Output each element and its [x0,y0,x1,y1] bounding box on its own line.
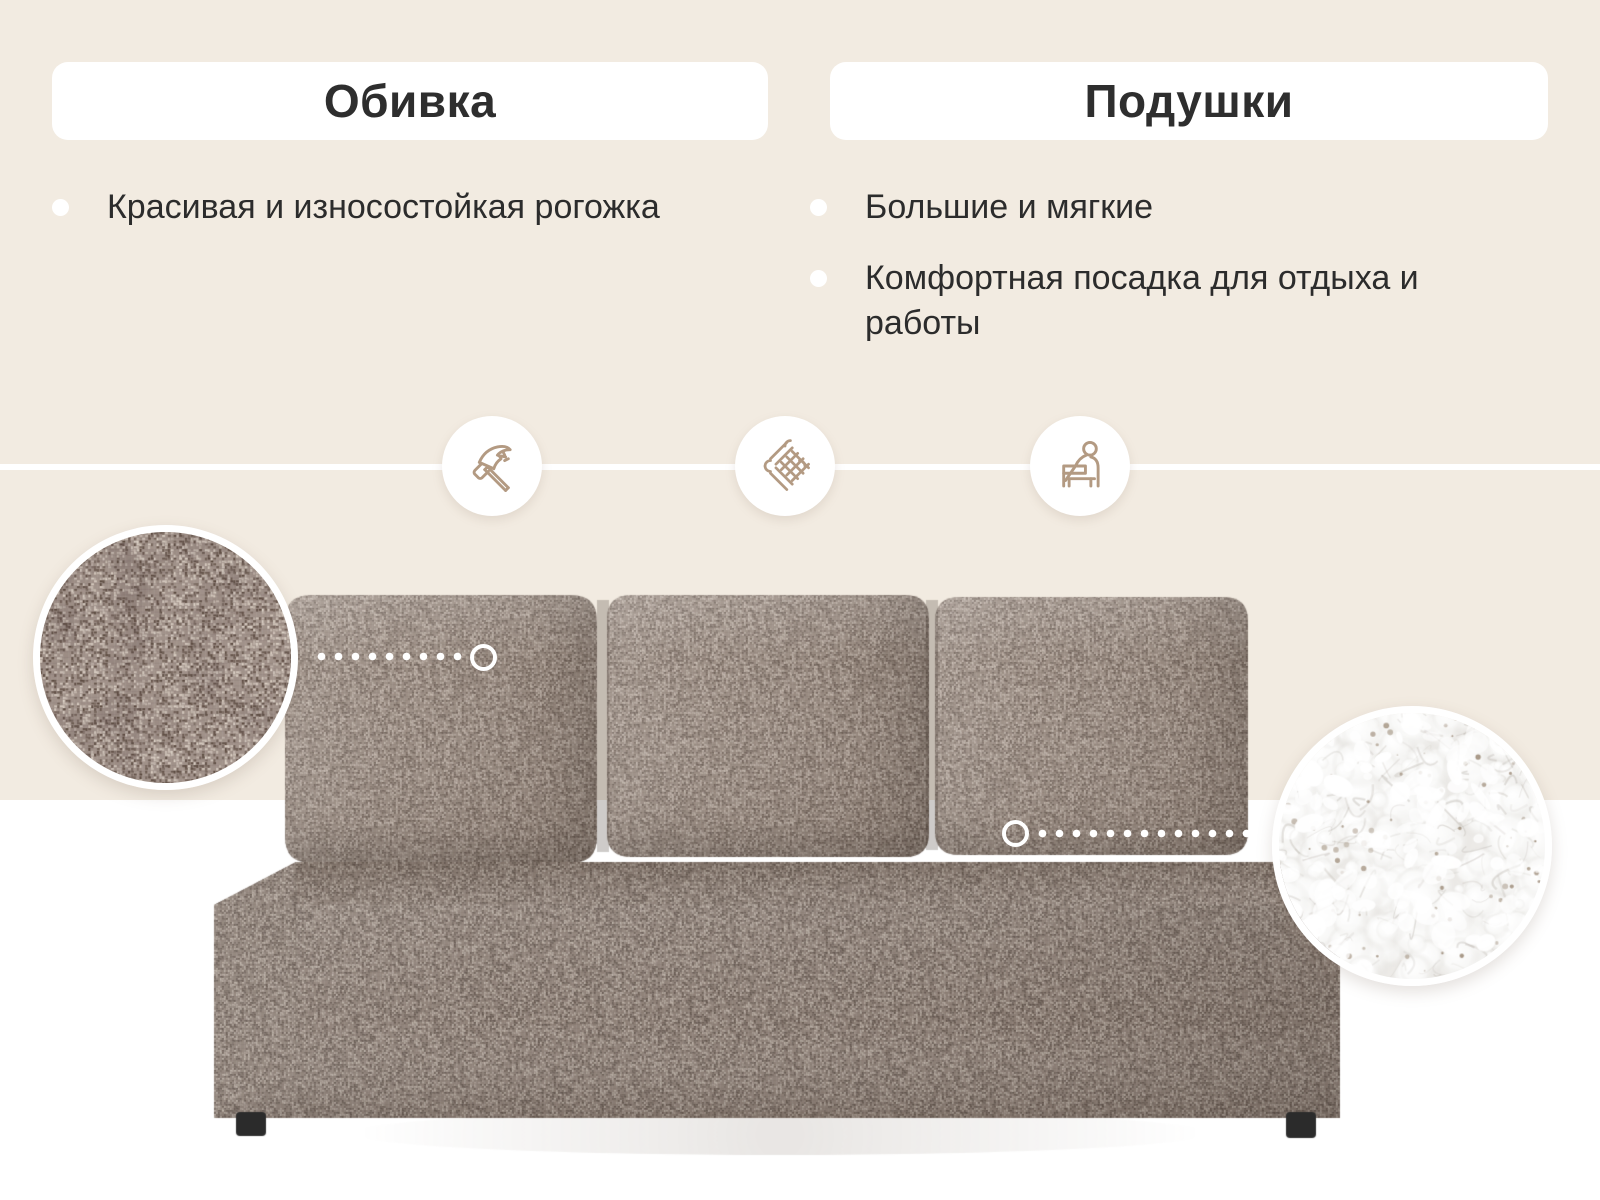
list-item: Комфортная посадка для отдыха и работы [810,256,1530,346]
icon-badge-person-sitting [1030,416,1130,516]
feature-text: Комфортная посадка для отдыха и работы [865,256,1530,346]
weave-icon [756,437,814,495]
infographic-stage: Обивка Подушки Красивая и износостойкая … [0,0,1600,1200]
icon-badge-hammer [442,416,542,516]
list-item: Красивая и износостойкая рогожка [52,185,752,230]
feature-text: Красивая и износостойкая рогожка [107,185,660,230]
header-title-cushions: Подушки [1084,78,1293,124]
hammer-icon [463,437,521,495]
bullet-dot-icon [52,199,69,216]
feature-list-upholstery: Красивая и износостойкая рогожка [52,185,752,252]
person-sitting-icon [1051,437,1109,495]
bullet-dot-icon [810,199,827,216]
feature-list-cushions: Большие и мягкие Комфортная посадка для … [810,185,1530,372]
connector-line-cushion [1034,829,1249,838]
connector-endpoint-upholstery [470,644,497,671]
fabric-swatch-circle [33,525,298,790]
filling-swatch-circle [1272,706,1552,986]
connector-line-upholstery [313,652,473,661]
header-pill-upholstery: Обивка [52,62,768,140]
connector-endpoint-cushion [1002,820,1029,847]
icon-badge-weave [735,416,835,516]
filling-texture [1279,713,1545,979]
header-pill-cushions: Подушки [830,62,1548,140]
header-title-upholstery: Обивка [324,78,496,124]
feature-text: Большие и мягкие [865,185,1153,230]
bullet-dot-icon [810,270,827,287]
fabric-texture [40,532,291,783]
list-item: Большие и мягкие [810,185,1530,230]
